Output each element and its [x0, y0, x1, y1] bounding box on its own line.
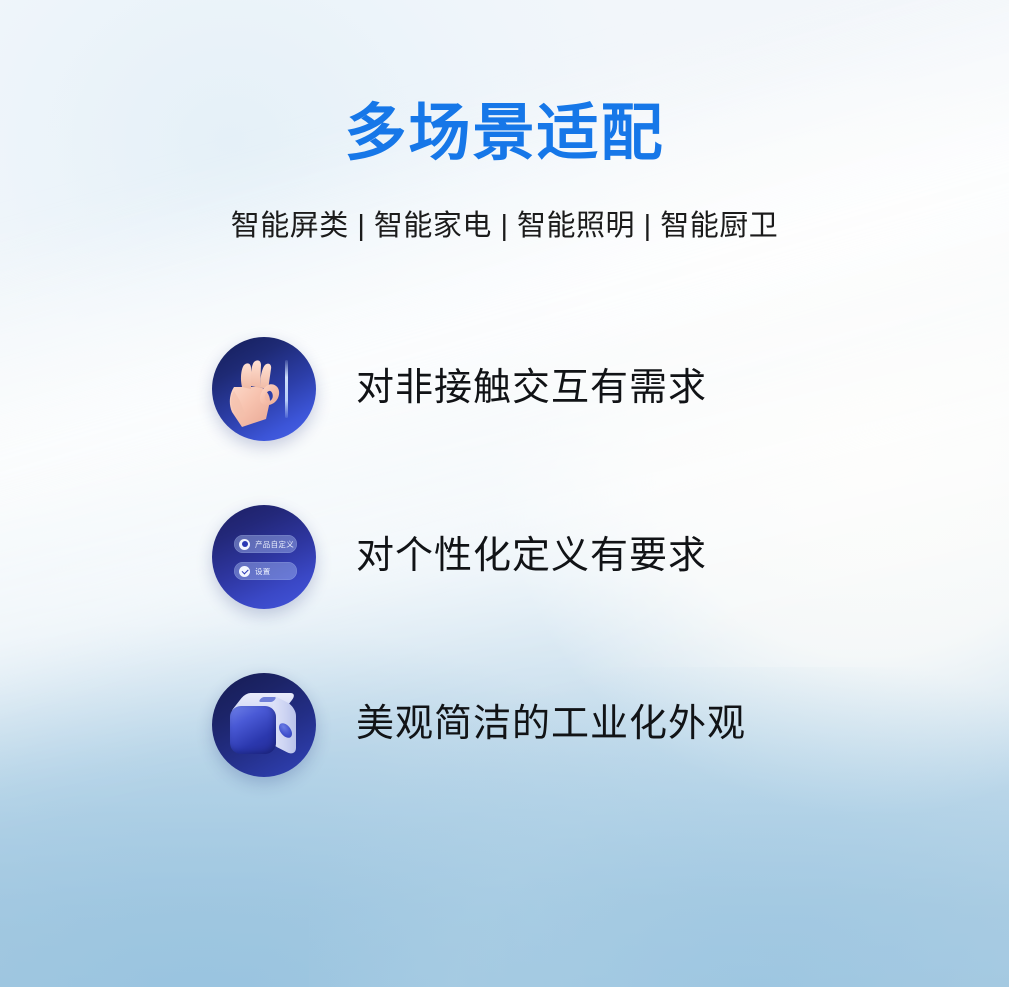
hand-gesture-icon: [212, 337, 316, 441]
gear-icon: [239, 539, 250, 550]
device-cube-icon: [212, 673, 316, 777]
panel-pill-label: 产品自定义: [255, 539, 294, 550]
promo-page: 多场景适配 智能屏类 | 智能家电 | 智能照明 | 智能厨卫: [0, 0, 1009, 987]
feature-label: 对个性化定义有要求: [356, 534, 707, 580]
touch-line-icon: [285, 360, 288, 418]
panel-pill-product-custom: 产品自定义: [234, 535, 297, 553]
feature-label: 对非接触交互有需求: [356, 366, 707, 412]
feature-item-contactless: 对非接触交互有需求: [212, 337, 746, 441]
hand-gesture-glyph: [226, 357, 288, 427]
page-title: 多场景适配: [0, 100, 1009, 165]
page-subtitle: 智能屏类 | 智能家电 | 智能照明 | 智能厨卫: [0, 208, 1009, 244]
check-circle-icon: [239, 566, 250, 577]
device-cube-glyph: [230, 693, 298, 757]
panel-pill-settings: 设置: [234, 562, 297, 580]
feature-item-industrial-design: 美观简洁的工业化外观: [212, 673, 746, 777]
feature-label: 美观简洁的工业化外观: [356, 702, 746, 748]
feature-list: 对非接触交互有需求 产品自定义 设置 对个性化定义有要求: [212, 337, 746, 777]
panel-pill-label: 设置: [255, 566, 271, 577]
content-layer: 多场景适配 智能屏类 | 智能家电 | 智能照明 | 智能厨卫: [0, 0, 1009, 987]
settings-panel-icon: 产品自定义 设置: [212, 505, 316, 609]
cube-front-face: [230, 706, 276, 754]
feature-item-customization: 产品自定义 设置 对个性化定义有要求: [212, 505, 746, 609]
